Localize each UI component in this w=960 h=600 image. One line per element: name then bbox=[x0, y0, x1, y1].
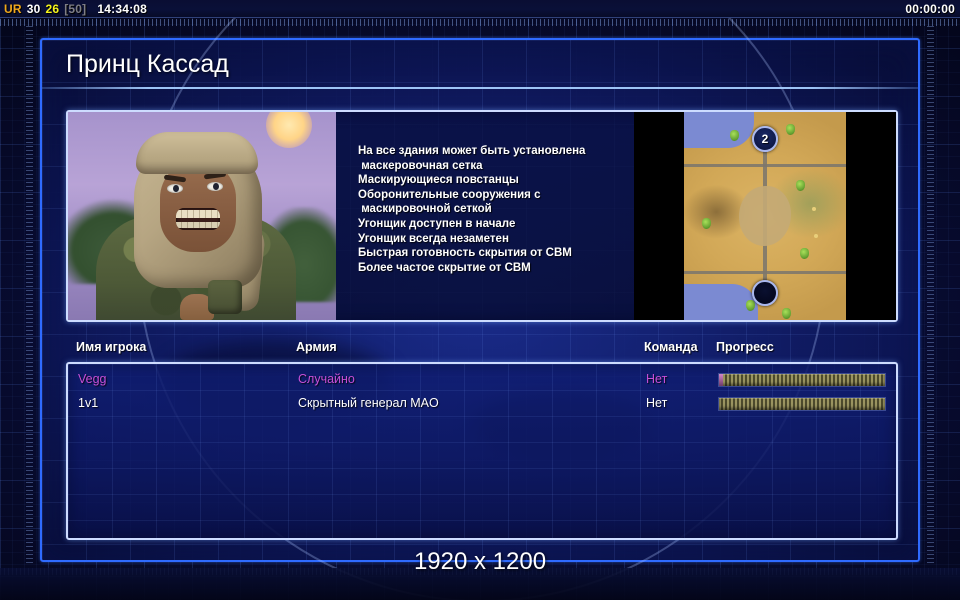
portrait-canteen bbox=[208, 280, 242, 314]
ruler-right bbox=[927, 26, 934, 566]
ruler-left bbox=[26, 26, 33, 566]
map-letterbox-right bbox=[846, 112, 896, 320]
portrait-pupil-left bbox=[173, 185, 179, 192]
status-bar-left: UR 30 26 [50] 14:34:08 bbox=[0, 2, 147, 16]
title-separator bbox=[42, 87, 918, 89]
table-row[interactable]: Vegg Случайно Нет bbox=[68, 368, 896, 392]
map-tree bbox=[746, 300, 755, 311]
map-tree bbox=[702, 218, 711, 229]
map-tree bbox=[730, 130, 739, 141]
player-list-panel: Vegg Случайно Нет 1v1 Скрытный генерал M… bbox=[66, 362, 898, 540]
description-line: Угонщик доступен в начале bbox=[358, 217, 628, 232]
ur-label: UR bbox=[4, 2, 22, 16]
map-resource-dot bbox=[814, 234, 818, 238]
map-water-top-left bbox=[684, 112, 754, 148]
progress-bar-marker bbox=[719, 374, 723, 386]
main-frame: Принц Кассад bbox=[40, 38, 920, 562]
description-line: маскировочной сеткой bbox=[358, 202, 628, 217]
resolution-caption: 1920 x 1200 bbox=[0, 548, 960, 576]
player-table-header: Имя игрока Армия Команда Прогресс bbox=[66, 340, 898, 362]
column-header-army: Армия bbox=[296, 340, 337, 354]
value-secondary: 26 bbox=[45, 2, 59, 16]
portrait-pupil-right bbox=[213, 183, 219, 190]
portrait-mouth bbox=[176, 208, 220, 230]
title-bar: Принц Кассад bbox=[42, 40, 918, 88]
cell-army: Случайно bbox=[298, 372, 355, 386]
cell-team: Нет bbox=[646, 396, 667, 410]
cell-player-name: 1v1 bbox=[78, 396, 98, 410]
value-max: [50] bbox=[64, 2, 86, 16]
description-line: Оборонительные сооружения с bbox=[358, 188, 628, 203]
description-line: маскеровочная сетка bbox=[358, 159, 628, 174]
status-bar: UR 30 26 [50] 14:34:08 00:00:00 bbox=[0, 0, 960, 18]
column-header-progress: Прогресс bbox=[716, 340, 774, 354]
portrait-teeth-upper bbox=[176, 210, 220, 218]
description-line: Угонщик всегда незаметен bbox=[358, 232, 628, 247]
value-primary: 30 bbox=[27, 2, 41, 16]
general-description: На все здания может быть установлена мас… bbox=[336, 112, 634, 320]
page-title: Принц Кассад bbox=[42, 50, 229, 79]
timer-display: 00:00:00 bbox=[905, 2, 960, 16]
map-letterbox-left bbox=[634, 112, 684, 320]
description-line: На все здания может быть установлена bbox=[358, 144, 628, 159]
description-line: Маскирующиеся повстанцы bbox=[358, 173, 628, 188]
progress-bar bbox=[718, 373, 886, 387]
column-header-team: Команда bbox=[644, 340, 698, 354]
map-resource-dot bbox=[812, 207, 816, 211]
map-tree bbox=[796, 180, 805, 191]
clock-display: 14:34:08 bbox=[97, 2, 147, 16]
general-info-panel: На все здания может быть установлена мас… bbox=[66, 110, 898, 322]
map-start-position-2[interactable] bbox=[752, 280, 778, 306]
cell-army: Скрытный генерал MAO bbox=[298, 396, 439, 410]
game-screen: UR 30 26 [50] 14:34:08 00:00:00 Принц Ка… bbox=[0, 0, 960, 600]
description-line: Более частое скрытие от СВМ bbox=[358, 261, 628, 276]
cell-player-name: Vegg bbox=[78, 372, 107, 386]
ruler-top bbox=[0, 19, 960, 26]
progress-bar bbox=[718, 397, 886, 411]
portrait-cap bbox=[136, 132, 258, 174]
map-tree bbox=[782, 308, 791, 319]
general-portrait bbox=[68, 112, 336, 320]
progress-bar-fill bbox=[719, 398, 885, 410]
description-line: Быстрая готовность скрытия от СВМ bbox=[358, 246, 628, 261]
cell-team: Нет bbox=[646, 372, 667, 386]
map-tree bbox=[786, 124, 795, 135]
table-row[interactable]: 1v1 Скрытный генерал MAO Нет bbox=[68, 392, 896, 416]
map-tree bbox=[800, 248, 809, 259]
map-preview[interactable]: 2 bbox=[634, 112, 896, 320]
portrait-teeth-lower bbox=[176, 222, 220, 228]
map-start-position-1[interactable]: 2 bbox=[752, 126, 778, 152]
column-header-player-name: Имя игрока bbox=[76, 340, 146, 354]
progress-bar-fill bbox=[719, 374, 885, 386]
